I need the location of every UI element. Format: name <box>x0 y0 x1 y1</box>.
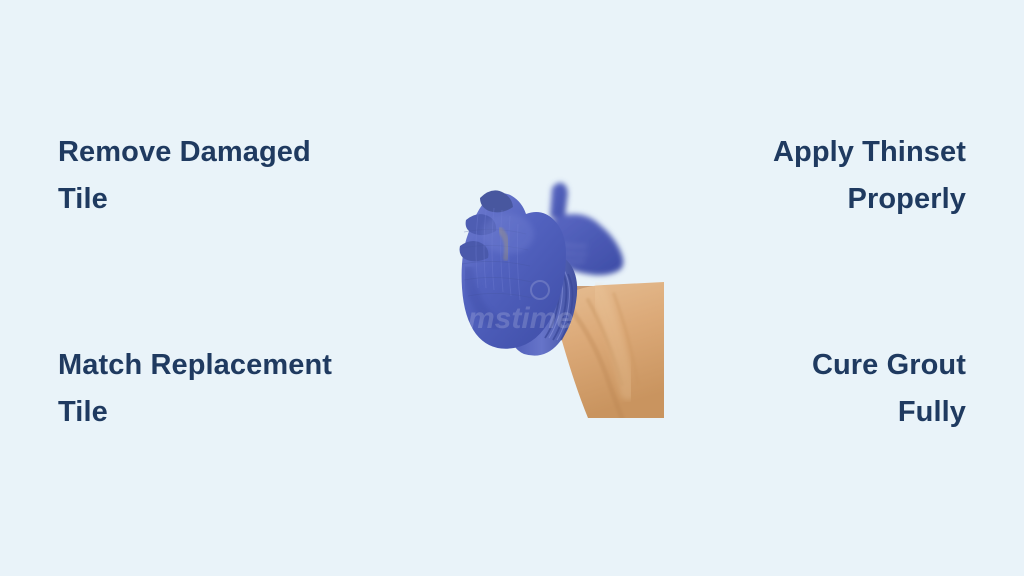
watermark-text: mstime <box>468 302 573 335</box>
callout-remove-damaged-tile: Remove Damaged Tile <box>58 129 458 223</box>
callout-match-replacement-tile: Match Replacement Tile <box>58 342 458 436</box>
gloved-hands-photo: mstime <box>448 168 664 418</box>
slide-canvas: Remove Damaged Tile Apply Thinset Proper… <box>0 0 1024 576</box>
